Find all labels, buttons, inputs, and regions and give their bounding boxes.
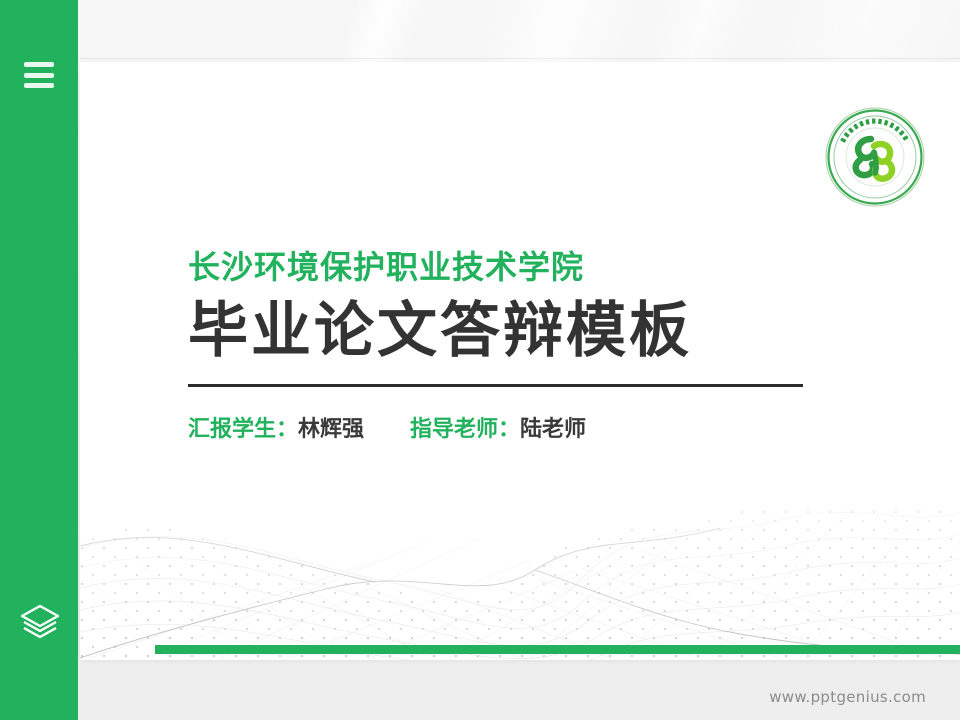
page-title: 毕业论文答辩模板	[188, 299, 803, 364]
background-hairline	[80, 58, 960, 59]
school-name: 长沙环境保护职业技术学院	[188, 250, 803, 285]
title-block: 长沙环境保护职业技术学院 毕业论文答辩模板 汇报学生：林辉强指导老师：陆老师	[188, 250, 803, 443]
advisor-label: 指导老师：	[410, 417, 520, 442]
dotted-mesh-decoration	[80, 420, 960, 660]
layers-stack-icon[interactable]	[18, 602, 62, 642]
card-bottom-accent-bar	[155, 645, 960, 654]
presenter-line: 汇报学生：林辉强指导老师：陆老师	[188, 411, 803, 443]
footer-url[interactable]: www.pptgenius.com	[769, 688, 926, 706]
hamburger-menu-icon[interactable]	[24, 62, 54, 88]
student-label: 汇报学生：	[188, 417, 298, 442]
title-divider	[188, 384, 803, 387]
presentation-slide: 长沙环境保护职业技术学院 毕业论文答辩模板 汇报学生：林辉强指导老师：陆老师 w…	[0, 0, 960, 720]
slide-card: 长沙环境保护职业技术学院 毕业论文答辩模板 汇报学生：林辉强指导老师：陆老师	[80, 62, 960, 660]
advisor-name: 陆老师	[520, 417, 586, 442]
student-name: 林辉强	[298, 417, 364, 442]
school-seal-logo	[824, 106, 926, 208]
left-accent-rail	[0, 0, 78, 720]
